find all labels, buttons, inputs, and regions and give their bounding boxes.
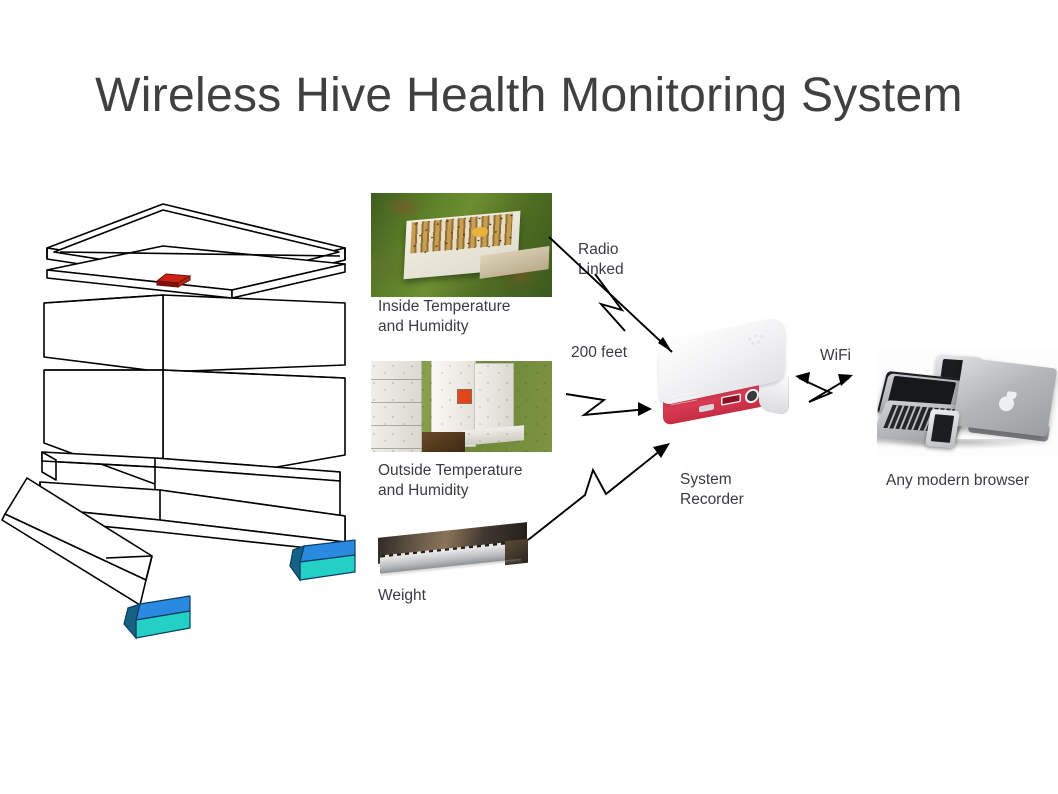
arrow-wifi: [795, 372, 853, 402]
connector-arrows: [0, 0, 1058, 794]
arrow-radio-linked: [549, 237, 672, 352]
arrow-weight: [528, 443, 670, 540]
arrow-200-feet: [566, 394, 652, 416]
slide-canvas: Wireless Hive Health Monitoring System: [0, 0, 1058, 794]
